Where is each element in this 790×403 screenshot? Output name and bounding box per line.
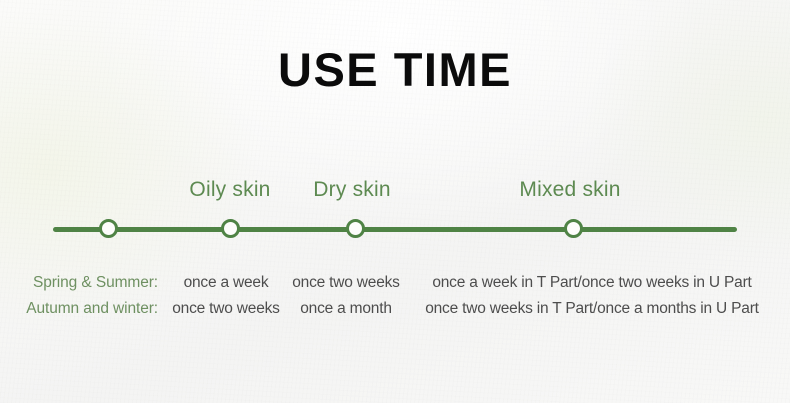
- timeline-label-mixed: Mixed skin: [519, 178, 620, 202]
- cell-spring-summer-oily: once a week: [168, 274, 284, 292]
- usage-frequency-infographic: USE TIME Oily skin Dry skin Mixed skin S…: [0, 0, 790, 403]
- cell-autumn-winter-oily: once two weeks: [168, 300, 284, 318]
- cell-spring-summer-dry: once two weeks: [284, 274, 408, 292]
- row-label-spring-summer: Spring & Summer:: [0, 274, 168, 292]
- cell-autumn-winter-mixed: once two weeks in T Part/once a months i…: [408, 300, 776, 318]
- timeline-track: [53, 227, 737, 232]
- skin-type-timeline: Oily skin Dry skin Mixed skin: [0, 170, 790, 240]
- page-title: USE TIME: [0, 46, 790, 93]
- timeline-node-mixed: [564, 219, 583, 238]
- timeline-label-oily: Oily skin: [189, 178, 270, 202]
- row-label-autumn-winter: Autumn and winter:: [0, 300, 168, 318]
- timeline-node-oily: [221, 219, 240, 238]
- timeline-node-start: [99, 219, 118, 238]
- cell-spring-summer-mixed: once a week in T Part/once two weeks in …: [408, 274, 776, 292]
- table-row: Spring & Summer: once a week once two we…: [0, 270, 790, 296]
- usage-table: Spring & Summer: once a week once two we…: [0, 270, 790, 322]
- timeline-node-dry: [346, 219, 365, 238]
- cell-autumn-winter-dry: once a month: [284, 300, 408, 318]
- timeline-label-dry: Dry skin: [313, 178, 390, 202]
- table-row: Autumn and winter: once two weeks once a…: [0, 296, 790, 322]
